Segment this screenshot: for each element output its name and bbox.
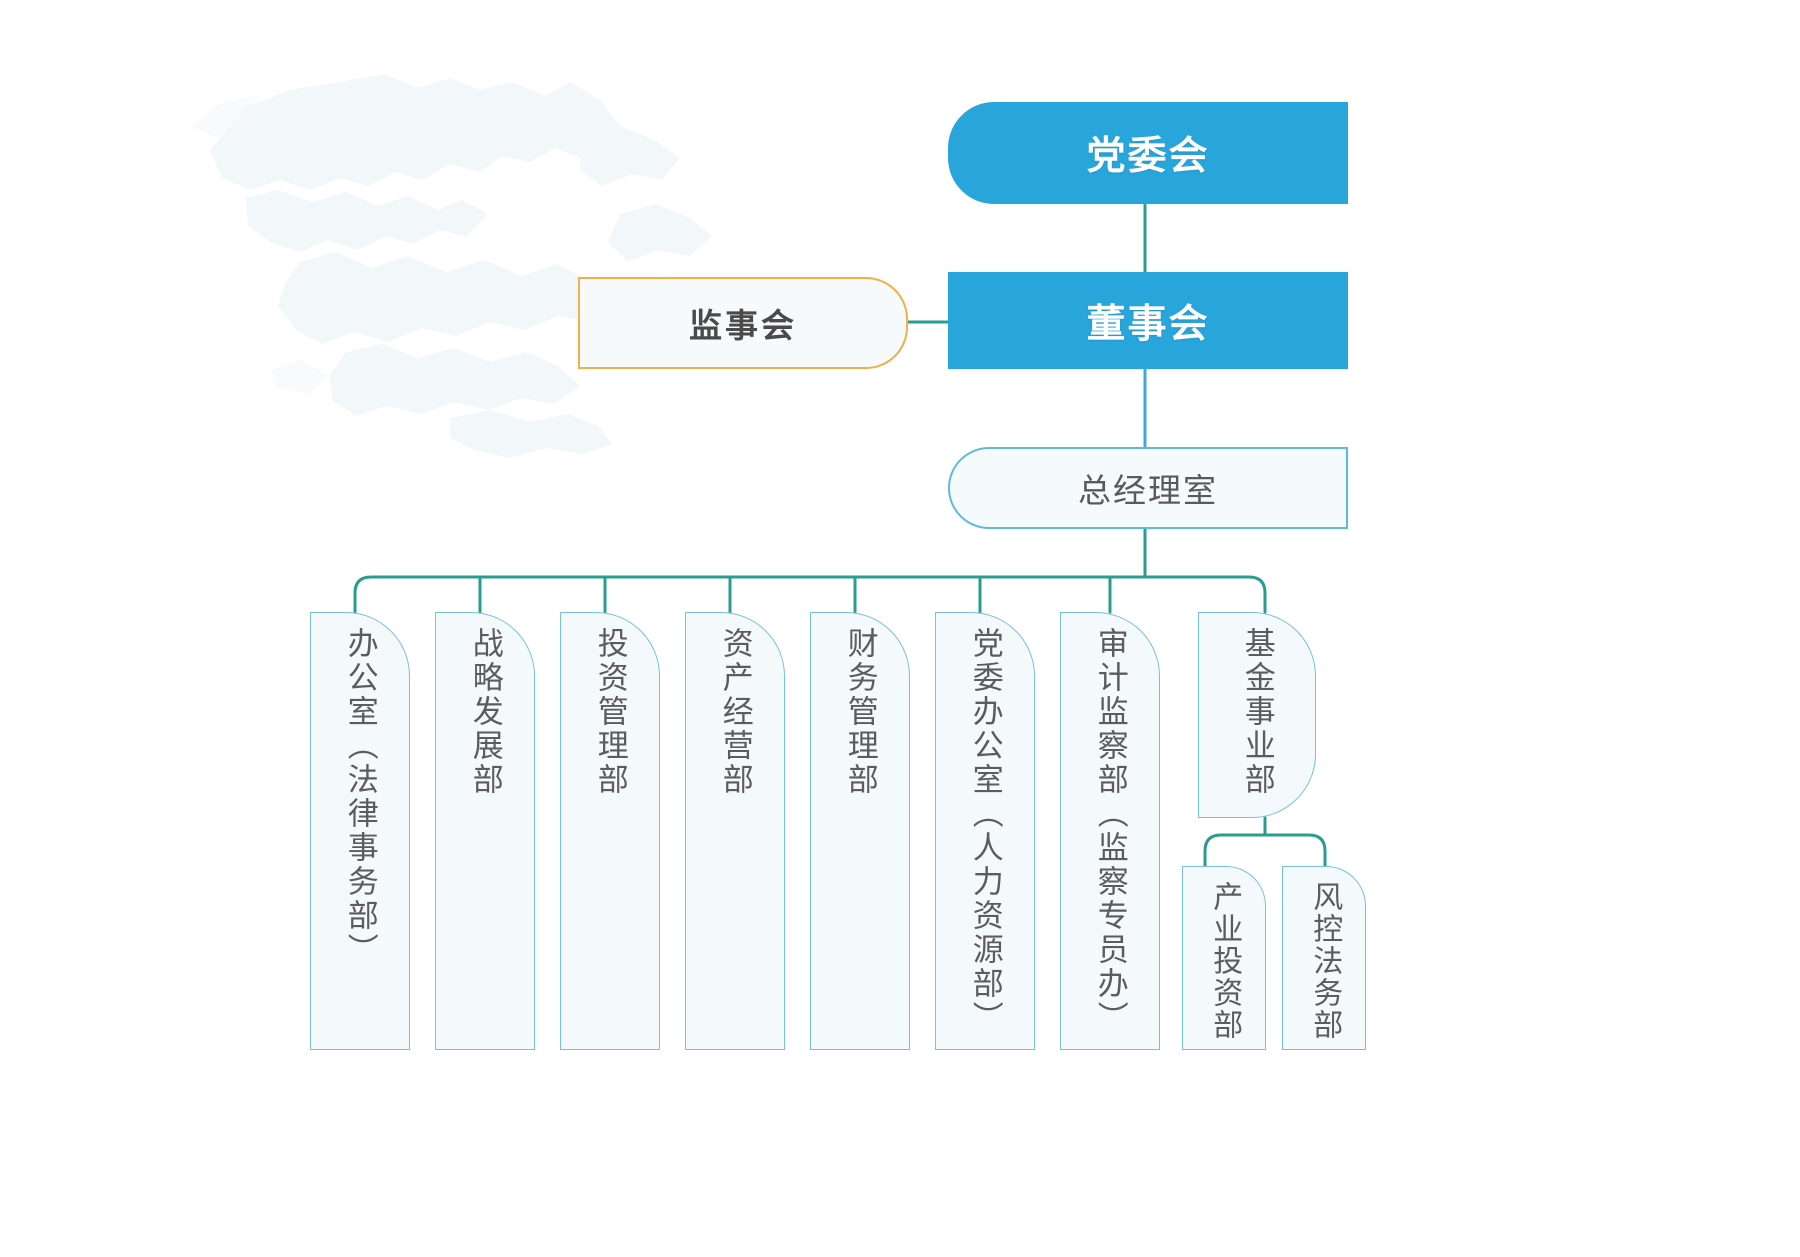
node-board-of-directors[interactable]: 董事会 <box>948 272 1348 369</box>
node-party-committee[interactable]: 党委会 <box>948 102 1348 204</box>
node-party-committee-label: 党委会 <box>1086 125 1209 181</box>
dept-audit-supervision[interactable]: 审计监察部（监察专员办） <box>1060 612 1160 1050</box>
node-board-of-supervisors-label: 监事会 <box>689 299 797 347</box>
dept-investment-mgmt-label: 投资管理部 <box>593 627 626 797</box>
dept-fund-business-label: 基金事业部 <box>1240 627 1273 797</box>
dept-fund-business[interactable]: 基金事业部 <box>1198 612 1316 818</box>
dept-party-office-hr[interactable]: 党委办公室（人力资源部） <box>935 612 1035 1050</box>
node-board-of-directors-label: 董事会 <box>1086 293 1209 349</box>
dept-strategy-label: 战略发展部 <box>468 627 501 797</box>
dept-finance-mgmt[interactable]: 财务管理部 <box>810 612 910 1050</box>
dept-asset-operations-label: 资产经营部 <box>718 627 751 797</box>
dept-strategy[interactable]: 战略发展部 <box>435 612 535 1050</box>
dept-audit-supervision-label: 审计监察部（监察专员办） <box>1093 627 1126 1035</box>
node-general-manager-office[interactable]: 总经理室 <box>948 447 1348 529</box>
dept-risk-legal[interactable]: 风控法务部 <box>1282 866 1366 1050</box>
dept-office-legal-label: 办公室（法律事务部） <box>343 627 376 967</box>
connector-lines <box>0 0 1800 1257</box>
dept-investment-mgmt[interactable]: 投资管理部 <box>560 612 660 1050</box>
dept-asset-operations[interactable]: 资产经营部 <box>685 612 785 1050</box>
china-map-watermark <box>150 30 770 460</box>
dept-risk-legal-label: 风控法务部 <box>1308 881 1340 1041</box>
node-board-of-supervisors[interactable]: 监事会 <box>578 277 908 369</box>
dept-industrial-investment-label: 产业投资部 <box>1208 881 1240 1041</box>
dept-industrial-investment[interactable]: 产业投资部 <box>1182 866 1266 1050</box>
dept-finance-mgmt-label: 财务管理部 <box>843 627 876 797</box>
dept-office-legal[interactable]: 办公室（法律事务部） <box>310 612 410 1050</box>
dept-party-office-hr-label: 党委办公室（人力资源部） <box>968 627 1001 1035</box>
node-general-manager-office-label: 总经理室 <box>1078 464 1218 512</box>
